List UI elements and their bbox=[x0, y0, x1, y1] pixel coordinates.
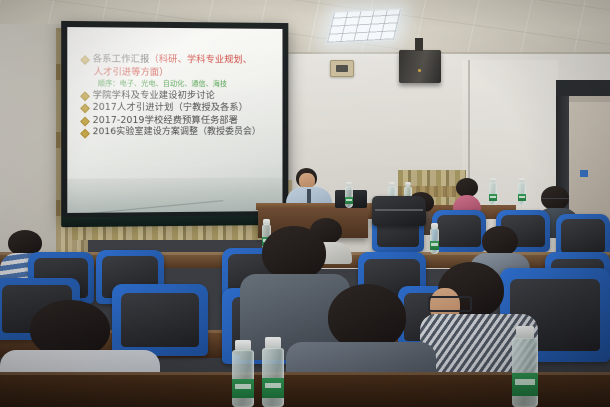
slide-bullet-1-subnote: 顺序：电子、光电、自动化、通信、海技 bbox=[98, 78, 277, 88]
slide-content: 各系工作汇报（科研、学科专业规划、 人才引进等方面） 顺序：电子、光电、自动化、… bbox=[81, 53, 276, 139]
slide-bullet-1-continuation: 人才引进等方面） bbox=[94, 66, 277, 78]
water-bottle[interactable] bbox=[512, 338, 538, 407]
water-bottle[interactable] bbox=[345, 186, 353, 208]
wall-switch-plate-icon[interactable] bbox=[330, 60, 354, 77]
ceiling-light-panel-icon bbox=[326, 8, 402, 44]
slide-bullet-2: 学院学科及专业建设初步讨论 bbox=[81, 89, 276, 100]
head bbox=[482, 226, 518, 256]
water-bottle[interactable] bbox=[232, 350, 254, 407]
door-sign-icon bbox=[580, 170, 588, 177]
screen-lower-shadow bbox=[67, 177, 282, 213]
speaker-mount bbox=[415, 38, 423, 51]
water-bottle[interactable] bbox=[489, 182, 497, 205]
slide-bullet-1-text: 各系工作汇报（科研、学科专业规划、 bbox=[93, 53, 252, 65]
slide-bullet-3: 2017人才引进计划（宁教授及各系） bbox=[81, 102, 276, 113]
wall-speaker-icon bbox=[399, 50, 441, 83]
meeting-room-screenshot: 各系工作汇报（科研、学科专业规划、 人才引进等方面） 顺序：电子、光电、自动化、… bbox=[0, 0, 610, 407]
slide-bullet-4: 2017-2019学校经费预算任务部署 bbox=[81, 114, 276, 125]
water-bottle[interactable] bbox=[430, 228, 439, 254]
glasses-icon bbox=[541, 198, 569, 203]
slide-bullet-5: 2016实验室建设方案调整（教授委员会） bbox=[81, 127, 276, 138]
bullet-diamond-icon bbox=[80, 116, 90, 126]
attendee-back-2 bbox=[452, 178, 482, 208]
slide-bullet-2-text: 学院学科及专业建设初步讨论 bbox=[93, 89, 215, 100]
water-bottle[interactable] bbox=[518, 182, 526, 205]
head bbox=[328, 284, 406, 350]
laptop-bag[interactable] bbox=[372, 196, 426, 226]
slide-bullet-3-text: 2017人才引进计划（宁教授及各系） bbox=[93, 102, 248, 113]
head bbox=[262, 226, 326, 280]
slide-bullet-5-text: 2016实验室建设方案调整（教授委员会） bbox=[93, 127, 261, 138]
water-bottle[interactable] bbox=[262, 348, 284, 407]
torso bbox=[453, 195, 481, 211]
slide-bullet-4-text: 2017-2019学校经费预算任务部署 bbox=[93, 114, 238, 125]
light-grid-cells bbox=[327, 9, 401, 42]
projection-screen-surface: 各系工作汇报（科研、学科专业规划、 人才引进等方面） 顺序：电子、光电、自动化、… bbox=[67, 27, 282, 213]
projection-screen: 各系工作汇报（科研、学科专业规划、 人才引进等方面） 顺序：电子、光电、自动化、… bbox=[61, 21, 288, 219]
bullet-diamond-icon bbox=[80, 103, 90, 113]
bullet-diamond-icon bbox=[80, 129, 90, 139]
bullet-diamond-icon bbox=[80, 91, 90, 101]
bullet-diamond-icon bbox=[80, 55, 90, 65]
speaker-led-icon bbox=[418, 69, 421, 72]
slide-bullet-1: 各系工作汇报（科研、学科专业规划、 bbox=[81, 53, 276, 65]
